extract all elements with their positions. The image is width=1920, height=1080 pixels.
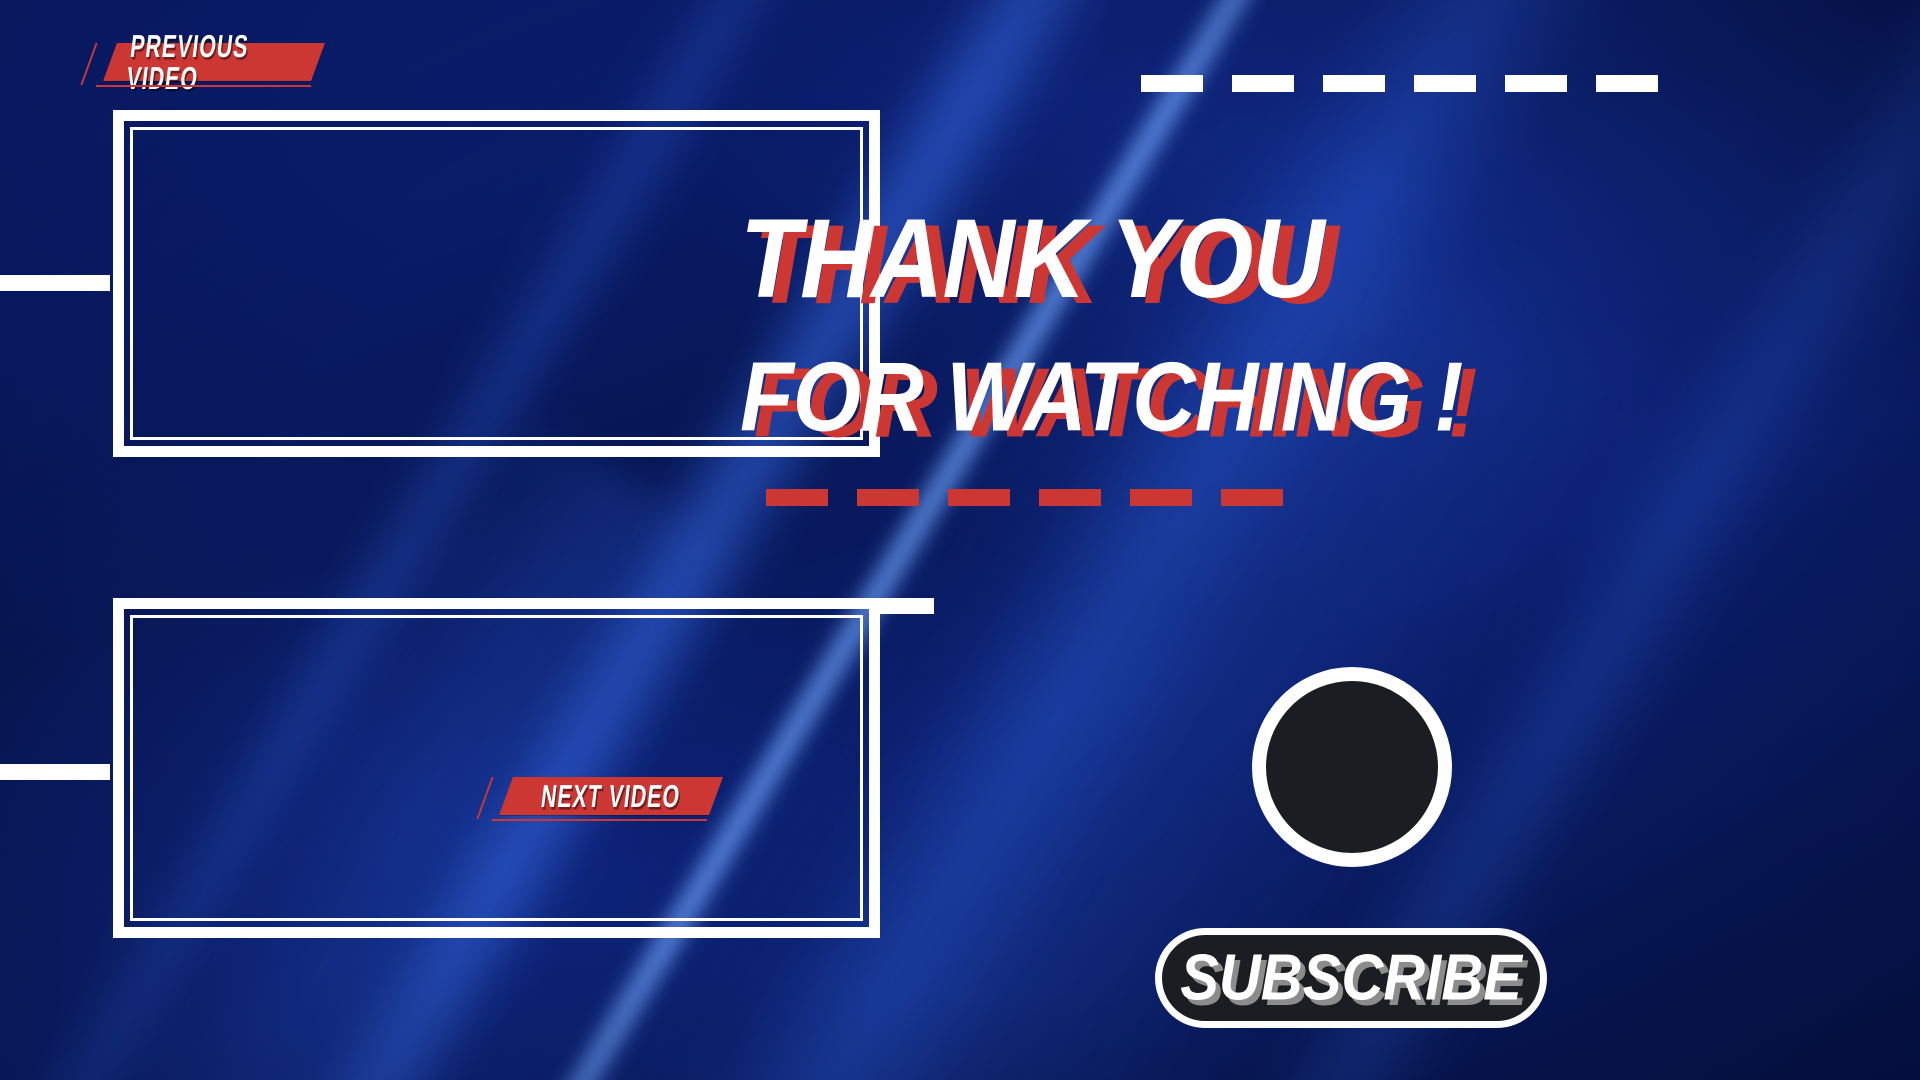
channel-avatar[interactable] xyxy=(1252,667,1452,867)
white-dashed-rule xyxy=(1141,75,1920,92)
next-video-tag-body: NEXT VIDEO xyxy=(499,777,723,815)
headline-line-1-fill: THANK YOU xyxy=(740,196,1324,321)
white-dash-segment xyxy=(1414,75,1476,92)
tag-underline xyxy=(492,819,707,821)
connector-line-previous xyxy=(0,275,110,291)
headline-line-1: THANK YOU THANK YOU xyxy=(740,196,1870,308)
previous-video-tag-body: PREVIOUS VIDEO xyxy=(103,43,325,81)
red-dash-segment xyxy=(766,489,828,506)
headline-line-2-fill: FOR WATCHING ! xyxy=(740,334,1462,459)
subscribe-button[interactable]: SUBSCRIBE xyxy=(1155,928,1547,1028)
red-dashed-rule xyxy=(766,489,1506,506)
white-dash-segment xyxy=(1232,75,1294,92)
white-dash-segment xyxy=(1505,75,1567,92)
white-dash-segment xyxy=(1323,75,1385,92)
white-dash-segment xyxy=(1141,75,1203,92)
next-video-placeholder[interactable] xyxy=(113,598,880,938)
next-video-tag[interactable]: NEXT VIDEO xyxy=(484,777,716,815)
white-dash-segment xyxy=(1596,75,1658,92)
red-dash-segment xyxy=(1221,489,1283,506)
headline-line-2: FOR WATCHING ! FOR WATCHING ! xyxy=(740,334,1870,446)
subscribe-button-label: SUBSCRIBE xyxy=(1180,946,1522,1011)
connector-line-next xyxy=(0,764,110,780)
headline-block: THANK YOU THANK YOU FOR WATCHING ! FOR W… xyxy=(740,196,1870,446)
next-video-inner-border xyxy=(130,615,863,921)
red-dash-segment xyxy=(1130,489,1192,506)
tag-underline xyxy=(96,85,311,87)
red-dash-segment xyxy=(1039,489,1101,506)
red-dash-segment xyxy=(857,489,919,506)
next-video-top-rail xyxy=(874,598,934,614)
next-video-tag-label: NEXT VIDEO xyxy=(540,780,683,812)
previous-video-tag[interactable]: PREVIOUS VIDEO xyxy=(88,43,318,81)
red-dash-segment xyxy=(948,489,1010,506)
end-screen-canvas: PREVIOUS VIDEO NEXT VIDEO THANK YOU THAN… xyxy=(0,0,1920,1080)
